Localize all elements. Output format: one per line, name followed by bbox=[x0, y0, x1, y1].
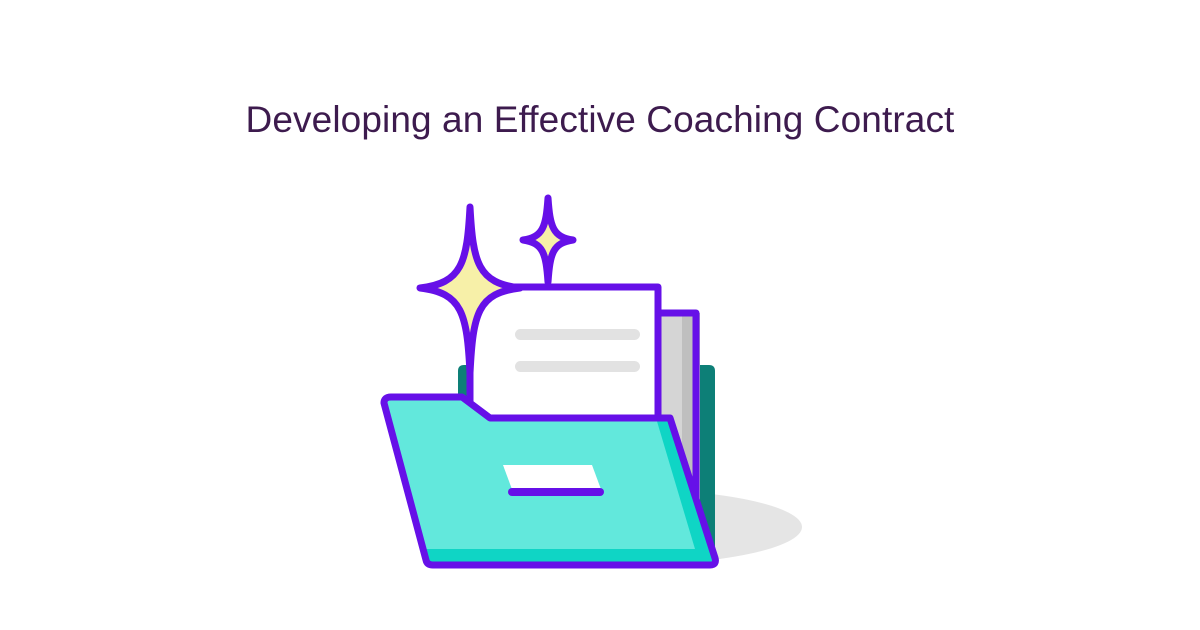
folder-label bbox=[503, 465, 602, 492]
illustration-canvas bbox=[370, 175, 830, 605]
page-root: Developing an Effective Coaching Contrac… bbox=[0, 0, 1200, 630]
document-text-line-1 bbox=[515, 329, 640, 340]
sparkle-small bbox=[523, 198, 573, 282]
folder-with-documents-illustration bbox=[370, 175, 830, 605]
document-text-line-2 bbox=[515, 361, 640, 372]
page-title: Developing an Effective Coaching Contrac… bbox=[0, 91, 1200, 149]
